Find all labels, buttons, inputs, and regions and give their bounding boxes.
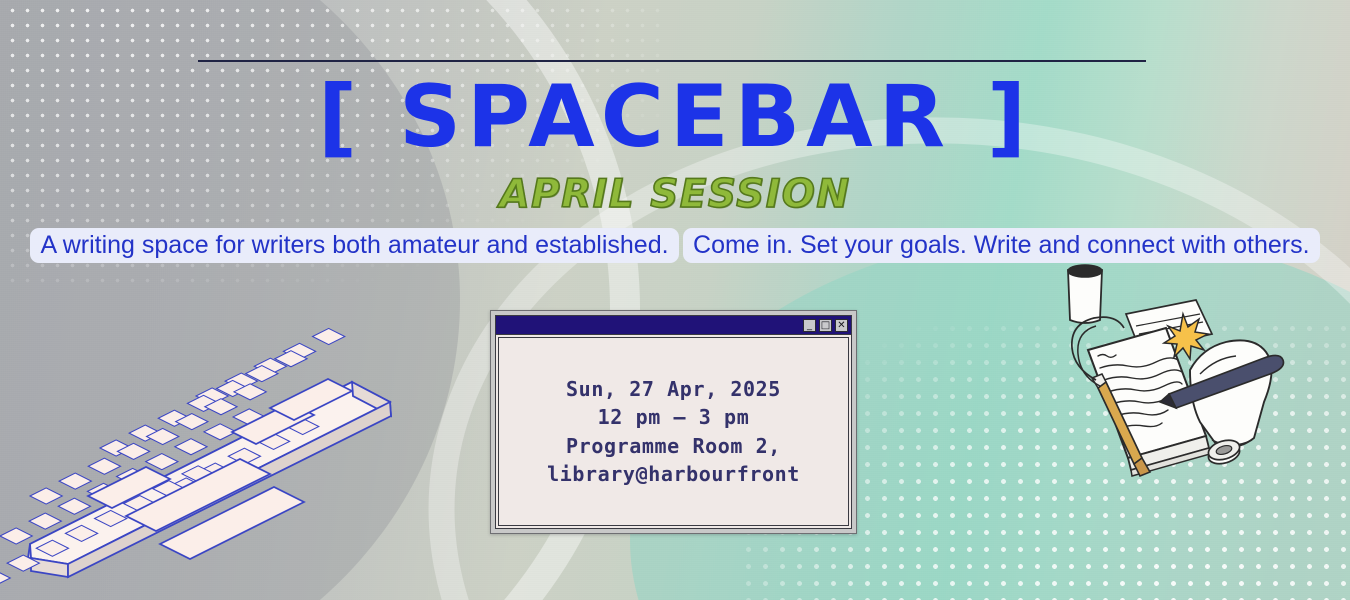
minimize-icon[interactable]: _ — [803, 319, 816, 332]
window-title-bar[interactable]: _ □ ✕ — [496, 316, 851, 335]
event-time: 12 pm — 3 pm — [547, 403, 800, 431]
poster-canvas: [ SPACEBAR ] APRIL SESSION A writing spa… — [0, 0, 1350, 600]
event-library: library@harbourfront — [547, 460, 800, 488]
tagline-block: A writing space for writers both amateur… — [0, 228, 1350, 263]
page-title: [ SPACEBAR ] — [0, 74, 1350, 160]
tagline-line-1: A writing space for writers both amateur… — [30, 228, 678, 263]
event-venue: Programme Room 2, — [547, 432, 800, 460]
session-subtitle: APRIL SESSION — [0, 175, 1350, 214]
coffee-mug-icon — [1068, 265, 1102, 323]
isometric-keyboard-illustration — [0, 296, 400, 600]
event-date: Sun, 27 Apr, 2025 — [547, 375, 800, 403]
hand-writing-notebook-illustration — [1040, 262, 1330, 497]
maximize-icon[interactable]: □ — [819, 319, 832, 332]
close-icon[interactable]: ✕ — [835, 319, 848, 332]
window-content-area: Sun, 27 Apr, 2025 12 pm — 3 pm Programme… — [498, 337, 849, 526]
header-divider-rule — [198, 60, 1146, 62]
event-details-window: _ □ ✕ Sun, 27 Apr, 2025 12 pm — 3 pm Pro… — [490, 310, 857, 534]
ring-icon — [1206, 437, 1242, 467]
window-inner-frame: _ □ ✕ Sun, 27 Apr, 2025 12 pm — 3 pm Pro… — [495, 315, 852, 529]
event-details-text: Sun, 27 Apr, 2025 12 pm — 3 pm Programme… — [547, 375, 800, 489]
tagline-line-2: Come in. Set your goals. Write and conne… — [683, 228, 1320, 263]
